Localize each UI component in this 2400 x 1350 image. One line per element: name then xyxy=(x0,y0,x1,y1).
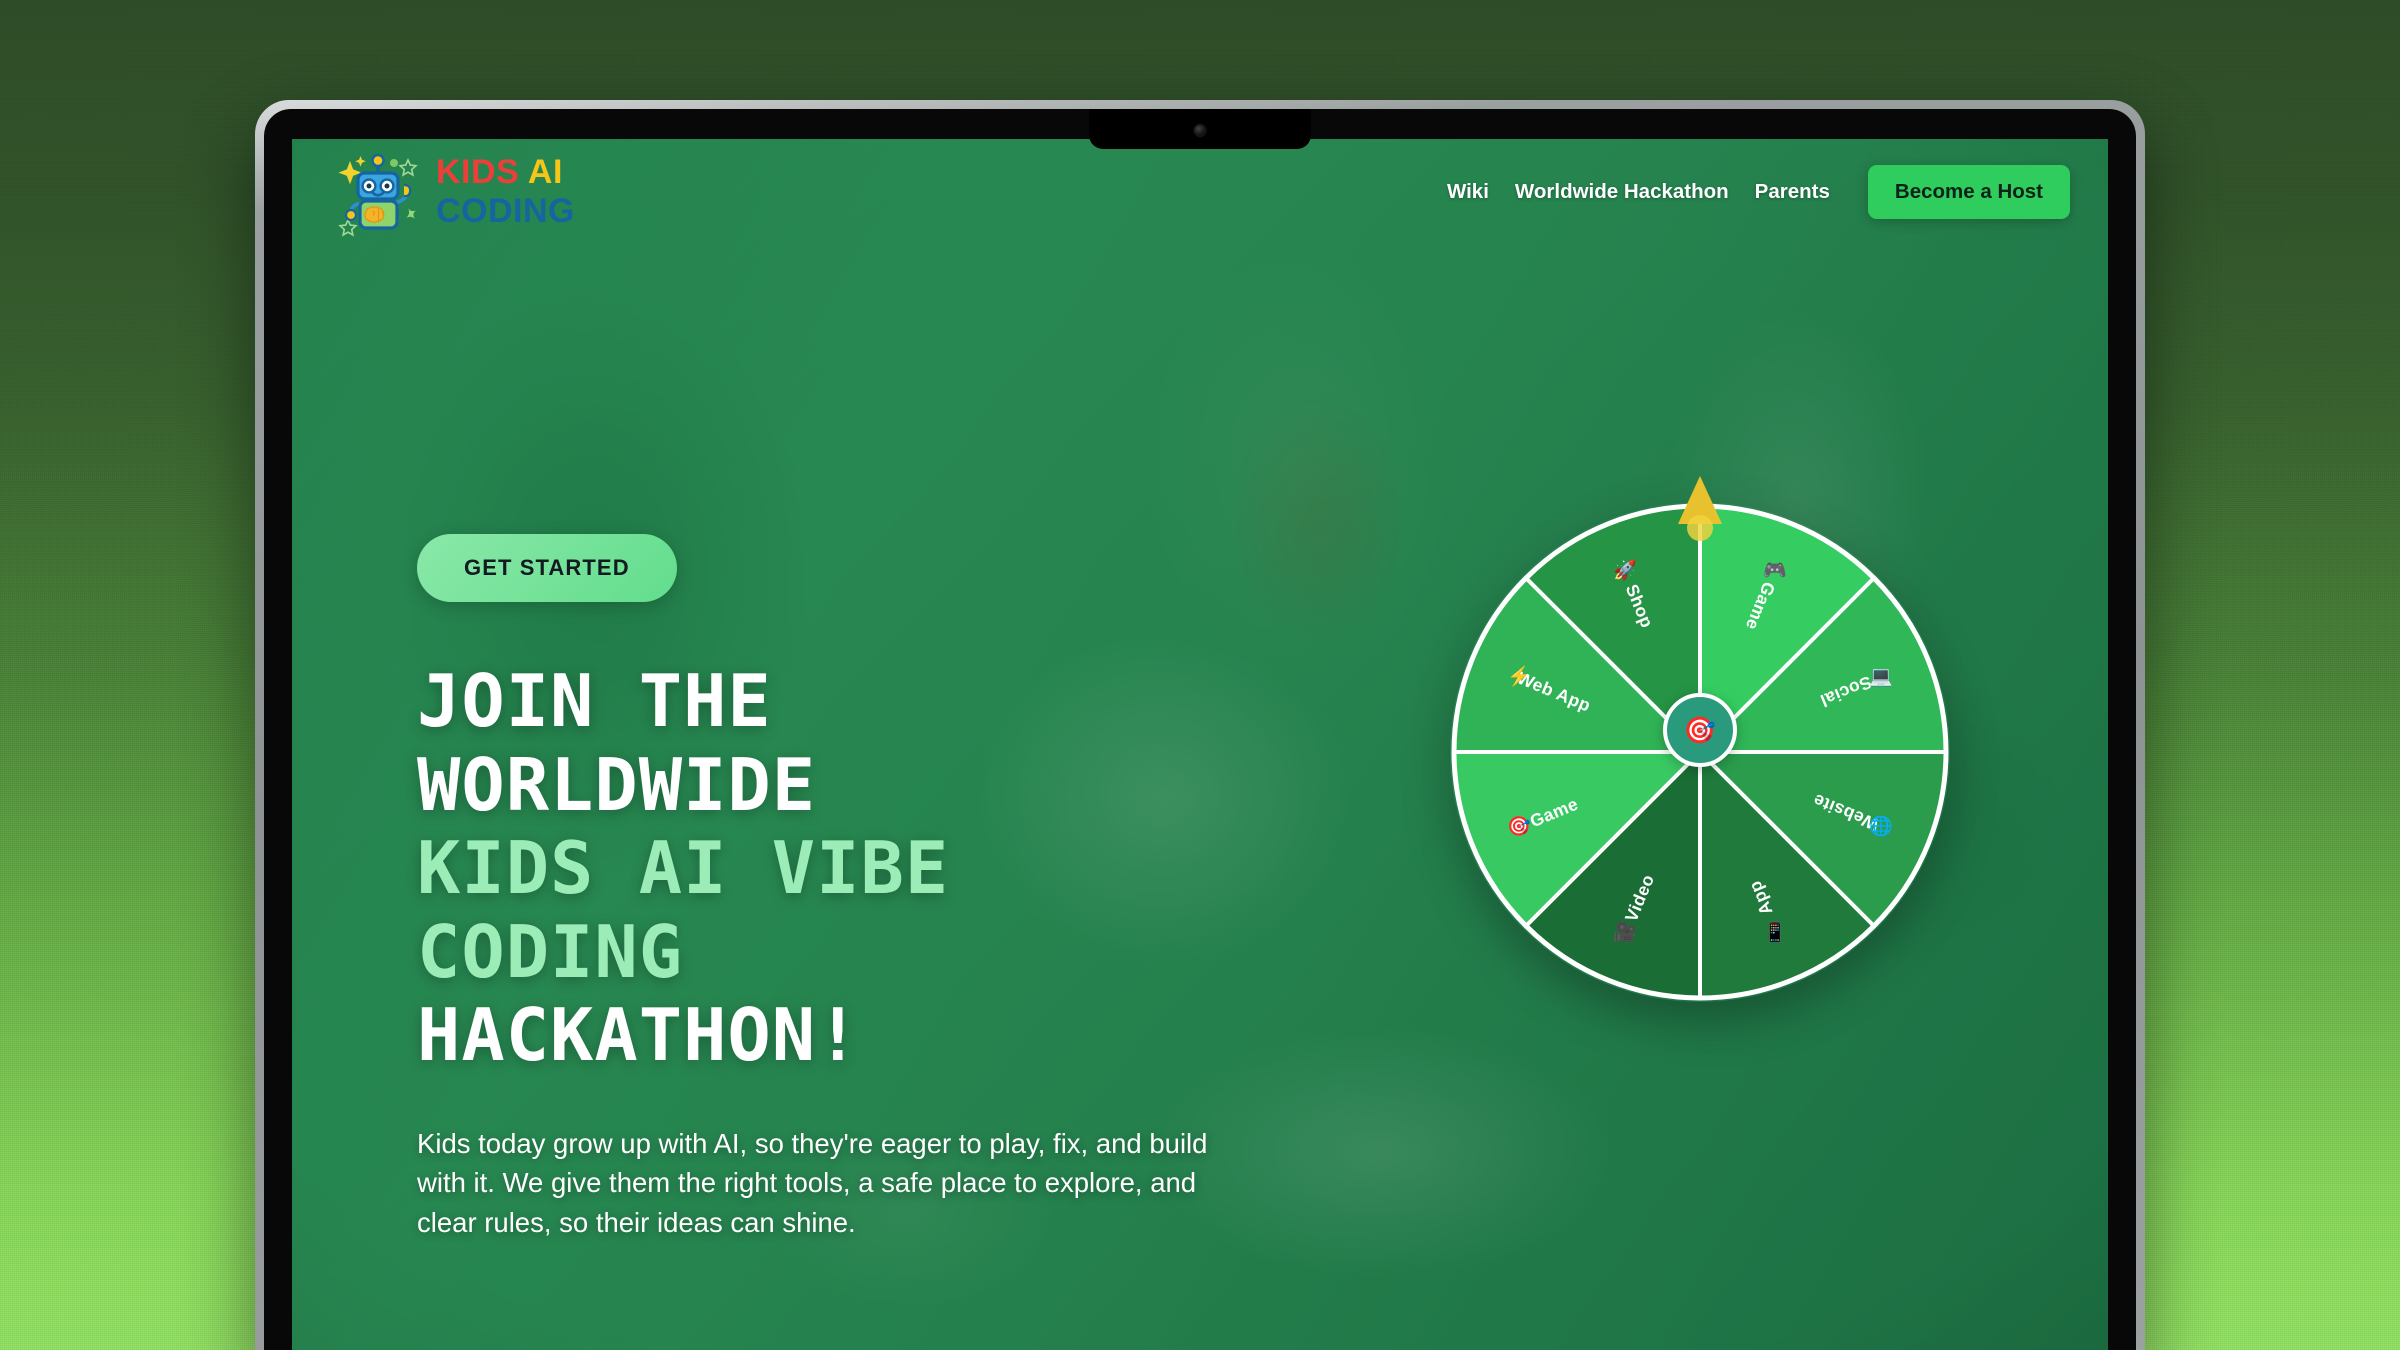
headline-line-5: HACKATHON! xyxy=(417,994,1297,1078)
wheel-segment-emoji: 💻 xyxy=(1869,666,1893,687)
robot-mascot-icon xyxy=(336,146,420,238)
wheel-segment-emoji: 📱 xyxy=(1763,921,1787,944)
laptop-mockup: KIDS AI CODING Wiki Worldwide Hackathon … xyxy=(255,100,2145,1350)
hero-paragraph: Kids today grow up with AI, so they're e… xyxy=(417,1124,1222,1244)
logo-text-coding: CODING xyxy=(436,194,575,228)
site-header: KIDS AI CODING Wiki Worldwide Hackathon … xyxy=(292,139,2108,244)
logo-text-kids: KIDS xyxy=(436,153,519,191)
nav-link-wiki[interactable]: Wiki xyxy=(1447,180,1489,204)
main-navigation: Wiki Worldwide Hackathon Parents Become … xyxy=(1447,165,2070,219)
laptop-notch xyxy=(1089,109,1311,149)
logo-text-ai: AI xyxy=(528,153,563,191)
logo-wordmark: KIDS AI CODING xyxy=(436,155,575,228)
webcam-icon xyxy=(1195,125,1206,136)
wheel-segment-emoji: 🎥 xyxy=(1613,921,1637,944)
nav-link-parents[interactable]: Parents xyxy=(1755,180,1830,204)
wheel-pointer-icon xyxy=(1670,472,1730,542)
headline-line-2: WORLDWIDE xyxy=(417,744,1297,828)
hero-copy-block: GET STARTED JOIN THE WORLDWIDE KIDS AI V… xyxy=(417,534,1297,1243)
wheel-segment-emoji: 🎯 xyxy=(1507,816,1531,838)
website-viewport: KIDS AI CODING Wiki Worldwide Hackathon … xyxy=(292,139,2108,1350)
wheel-segment-emoji: 🎮 xyxy=(1763,560,1787,581)
laptop-bezel: KIDS AI CODING Wiki Worldwide Hackathon … xyxy=(264,109,2136,1350)
become-a-host-button[interactable]: Become a Host xyxy=(1868,165,2070,219)
headline-line-3: KIDS AI VIBE xyxy=(417,827,1297,911)
site-logo[interactable]: KIDS AI CODING xyxy=(336,146,575,238)
headline-line-4: CODING xyxy=(417,911,1297,995)
prize-spinner-wheel[interactable]: Game🎮Social💻Website🌐App📱Video🎥Game🎯Web A… xyxy=(1450,480,1950,980)
hero-section: GET STARTED JOIN THE WORLDWIDE KIDS AI V… xyxy=(292,244,2108,1350)
wheel-segment-emoji: ⚡ xyxy=(1507,664,1531,687)
wheel-segment-emoji: 🚀 xyxy=(1613,558,1637,581)
get-started-button[interactable]: GET STARTED xyxy=(417,534,677,602)
hero-headline: JOIN THE WORLDWIDE KIDS AI VIBE CODING H… xyxy=(417,660,1297,1078)
wheel-segment-emoji: 🌐 xyxy=(1869,815,1893,838)
headline-line-1: JOIN THE xyxy=(417,660,1297,744)
nav-link-worldwide-hackathon[interactable]: Worldwide Hackathon xyxy=(1515,180,1729,204)
wheel-center-hub[interactable]: 🎯 xyxy=(1663,693,1737,767)
